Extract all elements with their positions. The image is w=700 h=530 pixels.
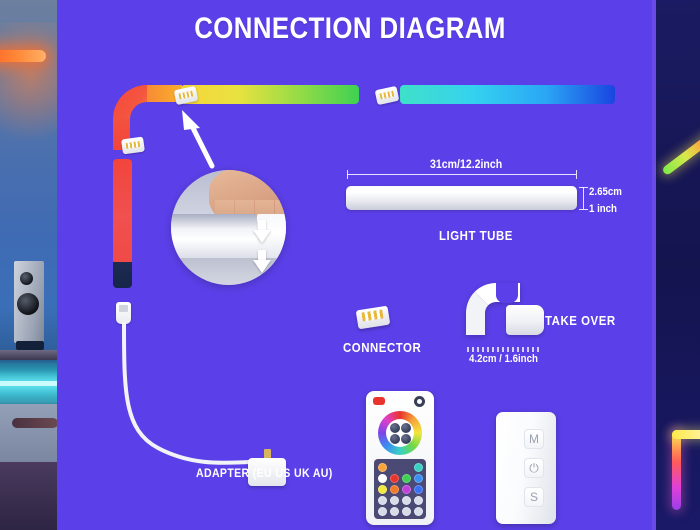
tube-height-label-inch: 1 inch	[589, 203, 617, 215]
speaker-woofer	[17, 293, 39, 315]
diagonal-rgb-bar	[661, 126, 700, 177]
light-controller-box[interactable]: M ⏻ S	[496, 412, 556, 524]
connector-part-image	[355, 303, 391, 328]
dimension-line-width	[347, 174, 576, 175]
insert-arrow-icon	[253, 230, 271, 243]
pointer-arrow-icon	[178, 108, 220, 170]
color-wheel[interactable]	[378, 411, 422, 455]
inset-tube-left	[171, 214, 257, 258]
remote-color-button[interactable]	[378, 507, 387, 516]
speaker-base	[16, 341, 44, 350]
take-over-dimension-label: 4.2cm / 1.6inch	[469, 353, 538, 365]
remote-color-button[interactable]	[378, 485, 387, 494]
remote-dpad-button[interactable]	[401, 434, 411, 444]
gear-icon[interactable]	[414, 396, 425, 407]
light-tube-cyan-blue	[400, 85, 615, 104]
usb-plug-icon	[116, 302, 131, 324]
remote-color-button[interactable]	[414, 463, 423, 472]
room-photo-left	[0, 0, 57, 530]
take-over-notch	[496, 283, 518, 303]
floor	[0, 462, 57, 530]
dimension-line-height	[583, 187, 584, 209]
remote-color-button[interactable]	[378, 474, 387, 483]
light-tube-caption: LIGHT TUBE	[439, 228, 513, 243]
cyan-light-bar	[0, 381, 57, 386]
page-title: CONNECTION DIAGRAM	[49, 12, 651, 46]
dimension-tick-right	[576, 170, 577, 179]
color-wheel-center	[386, 419, 414, 447]
power-cable	[112, 322, 252, 482]
dimension-tick-top	[579, 187, 588, 188]
power-button[interactable]: ⏻	[524, 458, 544, 478]
tube-length-label: 31cm/12.2inch	[430, 157, 502, 171]
remote-dpad-button[interactable]	[390, 434, 400, 444]
speaker-tweeter	[20, 272, 33, 285]
remote-color-button[interactable]	[390, 474, 399, 483]
diagram-canvas: CONNECTION DIAGRAM 31cm/12.2inch	[0, 0, 700, 530]
speed-button[interactable]: S	[524, 487, 544, 507]
tube-height-label-cm: 2.65cm	[589, 186, 622, 198]
remote-dpad-button[interactable]	[401, 423, 411, 433]
connector-chip-icon	[121, 137, 145, 155]
connector-chip-icon	[375, 86, 400, 105]
room-photo-right	[652, 0, 700, 530]
remote-color-button[interactable]	[378, 496, 387, 505]
remote-color-button[interactable]	[402, 474, 411, 483]
remote-color-button[interactable]	[402, 496, 411, 505]
remote-power-icon[interactable]	[373, 397, 385, 405]
remote-color-button[interactable]	[390, 507, 399, 516]
dimension-tick-bottom	[579, 209, 588, 210]
rgb-remote-control[interactable]	[366, 391, 434, 525]
desk-object	[12, 418, 57, 428]
remote-color-button[interactable]	[390, 496, 399, 505]
purple-edge-accent	[652, 0, 656, 530]
take-over-dimension-line	[467, 347, 539, 352]
remote-color-button[interactable]	[390, 485, 399, 494]
light-tube-vertical-red	[113, 159, 132, 264]
remote-color-button[interactable]	[378, 463, 387, 472]
desk-edge	[0, 350, 57, 360]
take-over-arm	[506, 305, 544, 335]
connector-caption: CONNECTOR	[343, 340, 421, 355]
mode-button[interactable]: M	[524, 429, 544, 449]
desk-surface	[0, 404, 57, 462]
light-tube-yellow-green	[181, 85, 359, 104]
take-over-caption: TAKE OVER	[545, 313, 616, 328]
orange-light-bar	[0, 50, 46, 62]
zoom-inset-photo	[171, 170, 286, 285]
remote-color-button[interactable]	[414, 474, 423, 483]
insert-arrow-icon	[253, 260, 271, 273]
remote-color-button[interactable]	[402, 485, 411, 494]
remote-color-button[interactable]	[414, 485, 423, 494]
light-tube-spec-image	[346, 186, 577, 210]
adapter-caption: ADAPTER (EU US UK AU)	[196, 466, 333, 480]
remote-color-button[interactable]	[402, 507, 411, 516]
remote-button-grid[interactable]	[374, 459, 426, 519]
remote-dpad-button[interactable]	[390, 423, 400, 433]
tube-end-cap	[113, 262, 132, 288]
l-shape-bar-horizontal	[672, 430, 700, 439]
l-shape-bar-vertical	[672, 430, 681, 510]
remote-color-button[interactable]	[414, 507, 423, 516]
remote-color-button[interactable]	[414, 496, 423, 505]
take-over-part-image	[466, 283, 548, 345]
